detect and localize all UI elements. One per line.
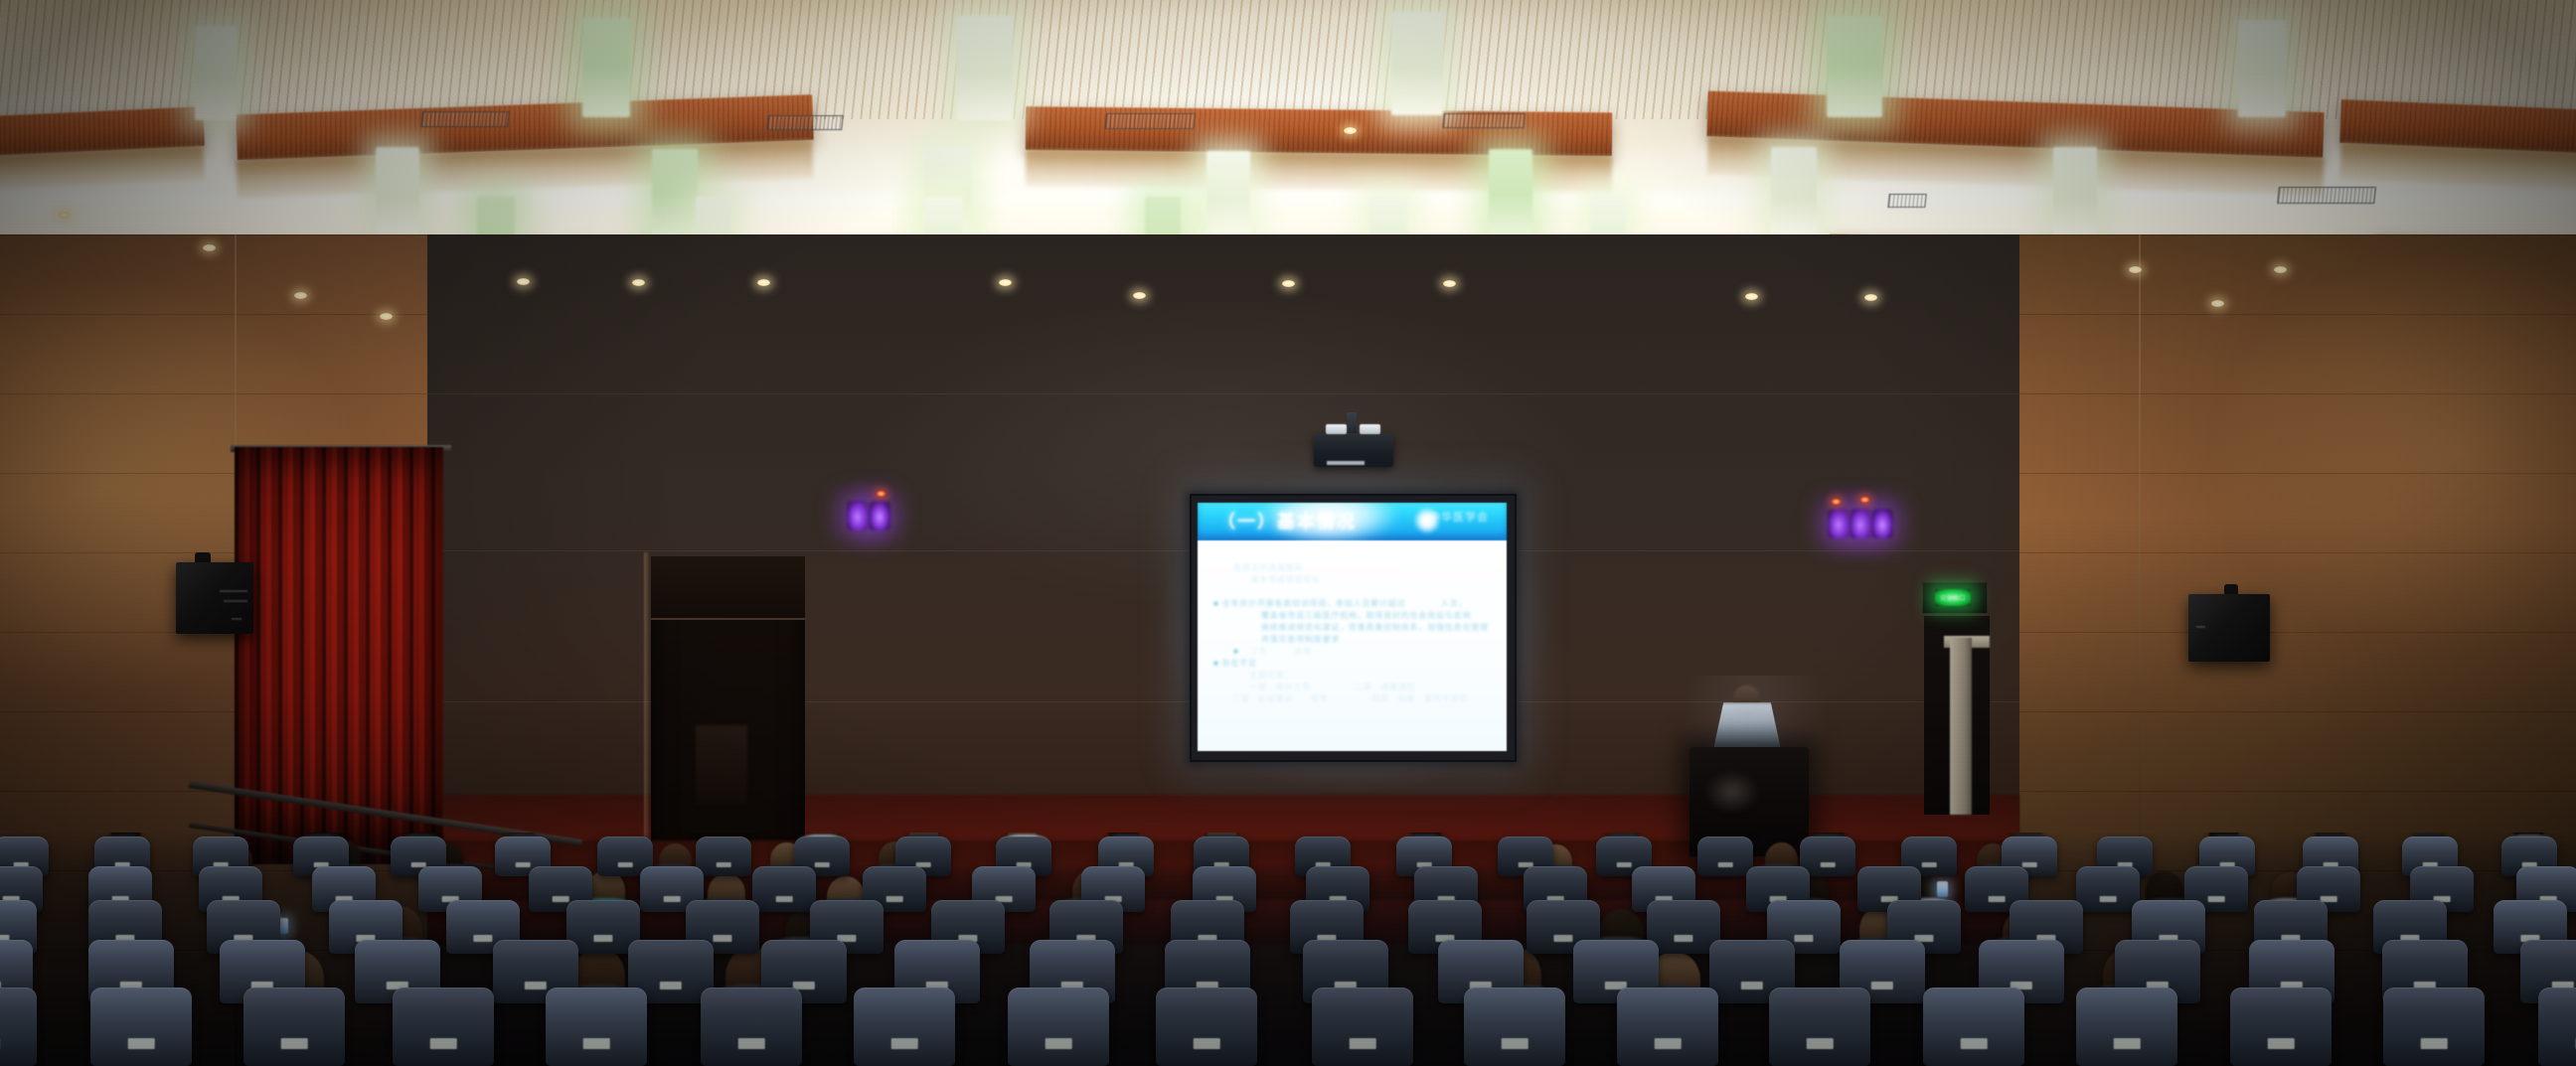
- recessed-downlight: [2129, 266, 2142, 273]
- red-stage-curtain: [235, 447, 443, 864]
- recessed-downlight: [999, 279, 1012, 286]
- recessed-downlight: [1133, 292, 1146, 299]
- ceiling-pillar: [2053, 147, 2097, 240]
- recessed-downlight: [1745, 293, 1758, 300]
- recessed-downlight: [58, 212, 71, 219]
- recessed-downlight: [1344, 127, 1357, 134]
- speaker-slot: [232, 618, 241, 620]
- recessed-downlight: [757, 279, 770, 286]
- auditorium-seat[interactable]: [752, 866, 816, 912]
- wall-speaker-right: [2188, 594, 2270, 662]
- podium-front-panel: [1705, 771, 1759, 813]
- auditorium-seat[interactable]: [90, 988, 192, 1066]
- stage-light: [847, 501, 869, 531]
- ceiling-pillar: [1771, 147, 1817, 240]
- auditorium-seat[interactable]: [1008, 988, 1109, 1066]
- auditorium-seat[interactable]: [1769, 988, 1870, 1066]
- slide-logo-text: 中华医学会: [1429, 509, 1489, 525]
- stage-light: [1850, 509, 1871, 538]
- stage-light: [869, 501, 890, 531]
- slide-text-line: 全年共计开展各类培训项目，参加人员累计超过 人次，: [1213, 598, 1493, 609]
- slide-text-line: 三是 队伍建设 任务 四是 制度 落实不到位: [1213, 693, 1493, 704]
- stage-light-pilot: [877, 491, 885, 497]
- recessed-downlight: [203, 244, 216, 251]
- projection-screen: （一）基本情况 中华医学会 各项工作进展顺利 基本完成预定目标·全年共计开展各类…: [1190, 494, 1517, 762]
- auditorium-seat[interactable]: [2230, 988, 2332, 1066]
- screen-surface: （一）基本情况 中华医学会 各项工作进展顺利 基本完成预定目标·全年共计开展各类…: [1198, 503, 1507, 751]
- speaker-slot: [220, 590, 247, 592]
- ceiling-pillar: [195, 26, 237, 120]
- hvac-grille: [1442, 113, 1526, 128]
- auditorium-seat[interactable]: [1617, 988, 1718, 1066]
- recessed-downlight: [380, 313, 393, 320]
- audience-phone-screen: [1937, 881, 1948, 897]
- auditorium-seat[interactable]: [0, 988, 37, 1066]
- exit-door-jamb: [1950, 638, 1972, 815]
- auditorium-seat[interactable]: [701, 988, 802, 1066]
- slide-text-line: 覆盖省市县三级医疗机构，取得良好的社会效益与反响: [1213, 610, 1493, 621]
- auditorium-seat[interactable]: [1156, 988, 1257, 1066]
- slide-body: 各项工作进展顺利 基本完成预定目标·全年共计开展各类培训项目，参加人员累计超过 …: [1198, 540, 1507, 751]
- stage-light-pilot: [1860, 497, 1869, 503]
- exit-sign-label: 安全出口: [1940, 593, 1966, 602]
- ceiling-pillar: [582, 18, 630, 117]
- ceiling-pillar: [652, 149, 698, 240]
- slide-text-line: 基本完成预定目标: [1213, 574, 1493, 585]
- hvac-grille: [1887, 194, 1926, 208]
- auditorium-seat[interactable]: [546, 988, 647, 1066]
- slide-text-line: 并落实各项制度要求: [1213, 634, 1493, 645]
- recessed-downlight: [632, 279, 645, 286]
- slide-text-line: 工作 总结: [1213, 646, 1493, 657]
- ceiling-pillar: [1391, 12, 1443, 115]
- slide-text-line: 一是 部分工作 二是 进度滞后: [1213, 682, 1493, 692]
- auditorium-seat[interactable]: [1800, 837, 1855, 876]
- projector-lens-icon: [1326, 424, 1347, 434]
- recessed-downlight: [517, 278, 530, 285]
- stage-light: [1871, 509, 1893, 538]
- auditorium-photo: （一）基本情况 中华医学会 各项工作进展顺利 基本完成预定目标·全年共计开展各类…: [0, 0, 2576, 1066]
- slide-header-bar: （一）基本情况 中华医学会: [1198, 503, 1507, 540]
- ceiling-pillar: [957, 16, 1013, 120]
- slide-text-line: 继续推进规范化建设，完善质量控制体系，加强信息化管理: [1213, 622, 1493, 633]
- slide-text-line: 存在不足: [1213, 658, 1493, 669]
- ceiling-pillar: [376, 147, 419, 240]
- auditorium-seat[interactable]: [2076, 866, 2140, 912]
- auditorium-seat[interactable]: [2538, 988, 2576, 1066]
- recessed-downlight: [1282, 280, 1295, 287]
- slide-text-line: 主要问题: [1213, 670, 1493, 681]
- recessed-downlight: [1864, 294, 1877, 301]
- ceiling-pillar: [1207, 151, 1250, 242]
- auditorium-seat[interactable]: [1464, 988, 1565, 1066]
- hvac-grille: [766, 115, 844, 130]
- wall-seam: [427, 393, 2019, 394]
- auditorium-seat[interactable]: [2076, 988, 2177, 1066]
- ceiling-pillar: [2238, 20, 2286, 117]
- projector-label-strip: [1327, 461, 1365, 465]
- wall-speaker-left: [176, 562, 253, 634]
- auditorium-seat[interactable]: [854, 988, 955, 1066]
- projector-lens-icon: [1360, 424, 1380, 434]
- auditorium-seat[interactable]: [1923, 988, 2024, 1066]
- ceiling-pillar: [1489, 149, 1532, 240]
- auditorium-seat[interactable]: [243, 988, 345, 1066]
- hvac-grille: [420, 111, 510, 127]
- stage-light: [1828, 509, 1850, 538]
- slide-title: （一）基本情况: [1217, 508, 1357, 533]
- speaker-slot: [224, 600, 247, 602]
- doorway-frame: [644, 552, 650, 868]
- slide-text-line: ·: [1213, 586, 1493, 597]
- hvac-grille: [1104, 113, 1196, 129]
- auditorium-seat[interactable]: [2383, 988, 2485, 1066]
- stage-light-pilot: [1832, 499, 1841, 505]
- speaker-slot: [2196, 626, 2205, 628]
- recessed-downlight: [2211, 300, 2224, 307]
- doorway-transom: [651, 556, 805, 620]
- ceiling-pillar: [1827, 16, 1882, 117]
- audience-seating: [0, 833, 2576, 1066]
- auditorium-seat[interactable]: [696, 837, 751, 876]
- recessed-downlight: [2274, 266, 2287, 273]
- slide-text-line: 各项工作进展顺利: [1213, 562, 1493, 573]
- exit-sign-icon: 安全出口: [1935, 589, 1971, 606]
- auditorium-seat[interactable]: [393, 988, 494, 1066]
- recessed-downlight: [294, 292, 307, 299]
- auditorium-seat[interactable]: [1312, 988, 1413, 1066]
- doorway-object: [696, 725, 747, 805]
- auditorium-seat[interactable]: [1697, 837, 1753, 876]
- recessed-downlight: [1443, 280, 1456, 287]
- hvac-grille: [2277, 187, 2376, 204]
